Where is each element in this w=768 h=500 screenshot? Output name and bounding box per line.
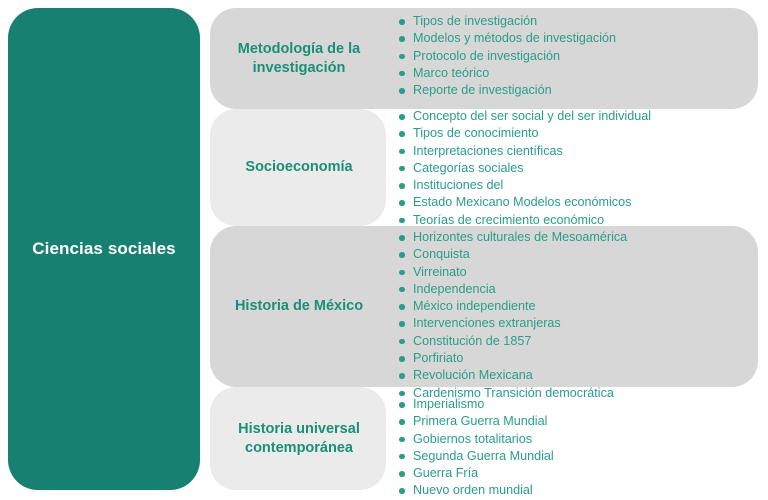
section-title-text: Metodología de la investigación [214,40,384,78]
subject-block: Ciencias sociales [8,8,200,490]
topic-item: Segunda Guerra Mundial [396,448,756,465]
topic-item: Teorías de crecimiento económico [396,212,756,229]
section-title-text: Historia de México [235,297,363,316]
section-title-historia-de-mexico: Historia de México [214,226,384,387]
topic-list-socioeconomia: Concepto del ser social y del ser indivi… [396,108,756,229]
topic-item: Gobiernos totalitarios [396,431,756,448]
section-title-text: Historia universal contemporánea [214,420,384,458]
topic-item: Instituciones del [396,177,756,194]
topic-item: Reporte de investigación [396,82,756,99]
topic-item: Concepto del ser social y del ser indivi… [396,108,756,125]
subject-label: Ciencias sociales [32,238,175,259]
topic-item: Primera Guerra Mundial [396,413,756,430]
topic-item: Imperialismo [396,396,756,413]
topic-item: Guerra Fría [396,465,756,482]
topic-item: Tipos de conocimiento [396,125,756,142]
section-title-historia-universal: Historia universal contemporánea [214,387,384,490]
topic-item: Virreinato [396,264,756,281]
topic-item: México independiente [396,298,756,315]
section-title-metodologia: Metodología de la investigación [214,8,384,109]
topic-item: Modelos y métodos de investigación [396,30,756,47]
topic-item: Constitución de 1857 [396,333,756,350]
topic-item: Revolución Mexicana [396,367,756,384]
topic-item: Intervenciones extranjeras [396,315,756,332]
topic-item: Independencia [396,281,756,298]
topic-item: Nuevo orden mundial [396,482,756,499]
section-title-text: Socioeconomía [245,158,352,177]
topic-item: Estado Mexicano Modelos económicos [396,194,756,211]
topic-item: Categorías sociales [396,160,756,177]
topic-item: Porfiriato [396,350,756,367]
topic-list-historia-universal: Imperialismo Primera Guerra Mundial Gobi… [396,396,756,500]
topic-item: Horizontes culturales de Mesoamérica [396,229,756,246]
topic-list-historia-de-mexico: Horizontes culturales de Mesoamérica Con… [396,229,756,402]
topic-item: Conquista [396,246,756,263]
topic-list-metodologia: Tipos de investigación Modelos y métodos… [396,13,756,99]
topic-item: Protocolo de investigación [396,48,756,65]
topic-item: Tipos de investigación [396,13,756,30]
topic-item: Marco teórico [396,65,756,82]
section-title-socioeconomia: Socioeconomía [214,109,384,226]
diagram-canvas: Ciencias sociales Metodología de la inve… [0,0,768,497]
topic-item: Interpretaciones científicas [396,143,756,160]
